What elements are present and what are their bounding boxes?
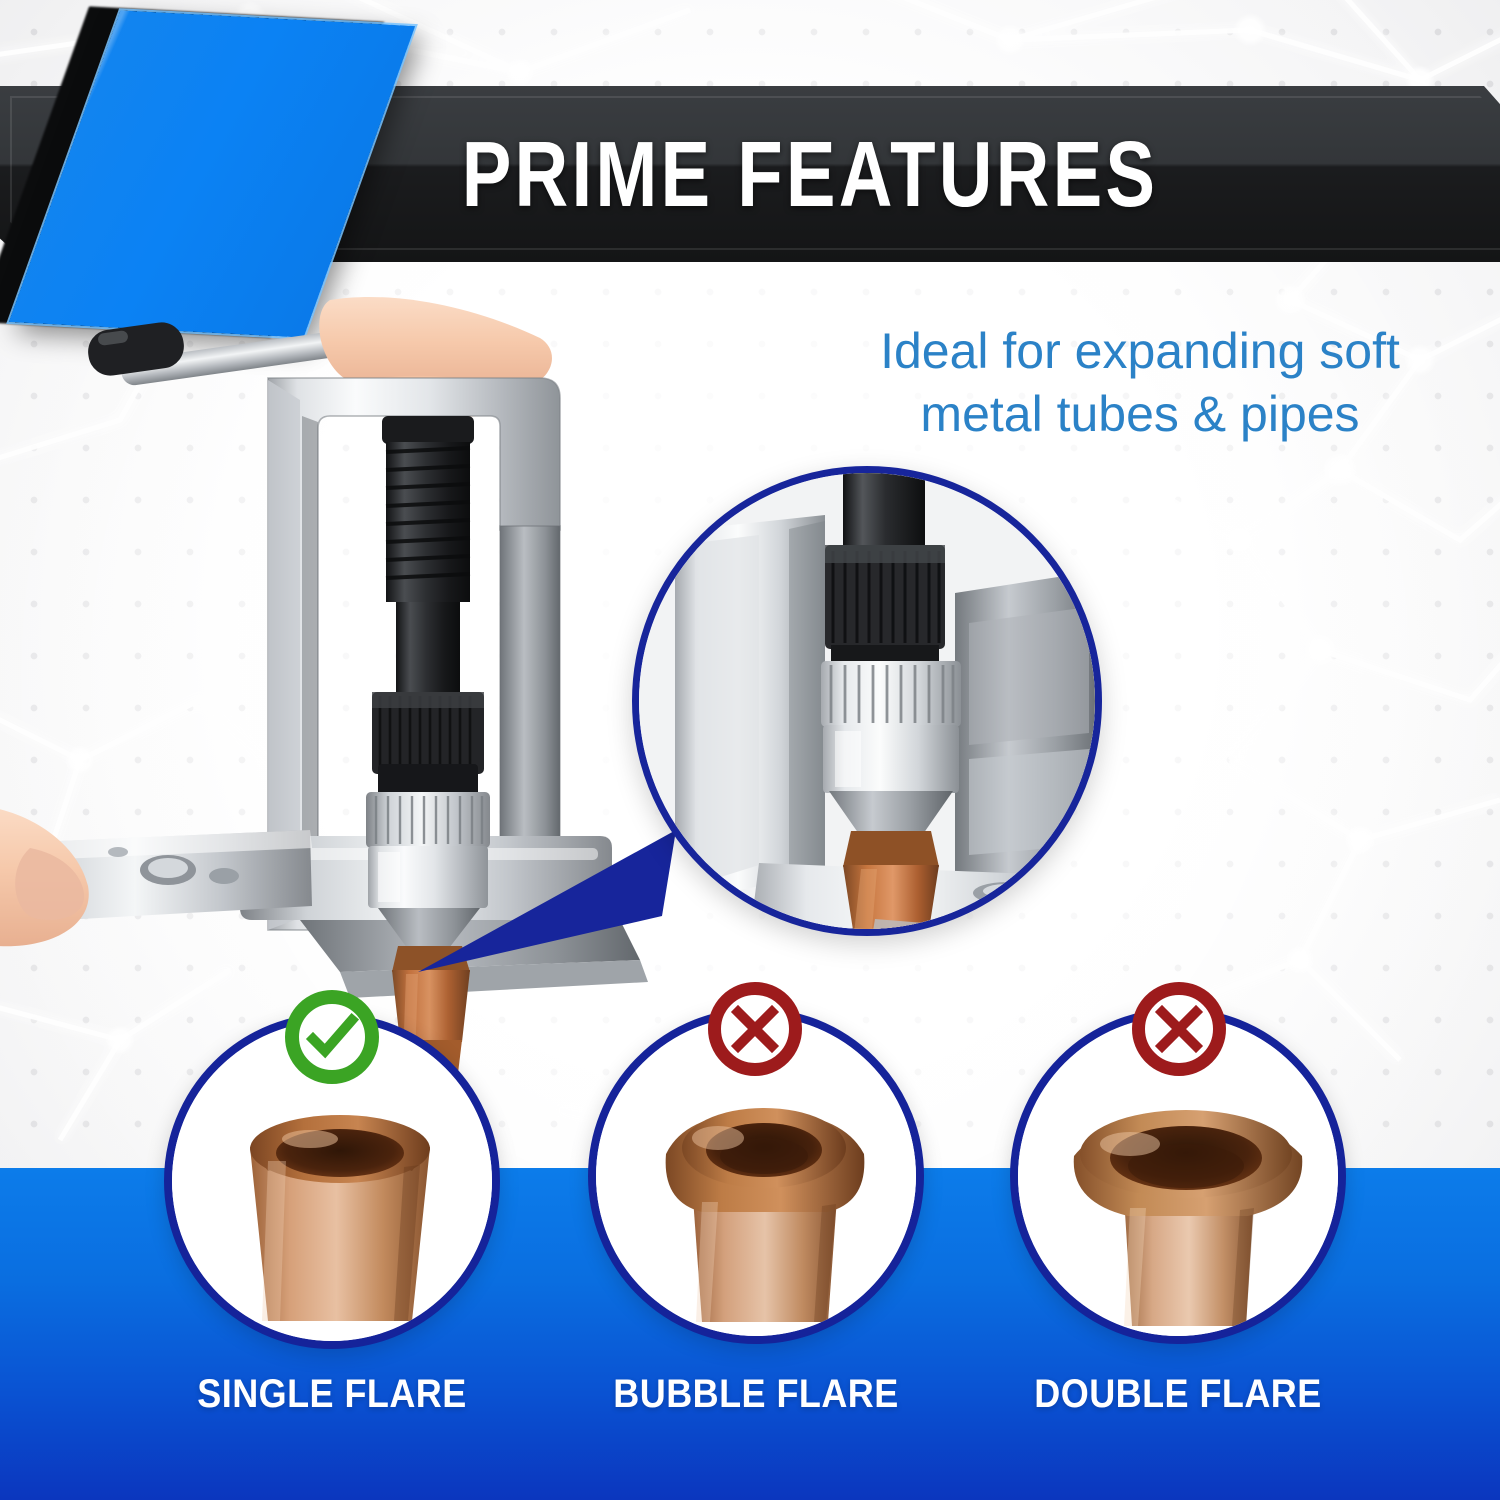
flare-label-double: DOUBLE FLARE <box>989 1372 1367 1417</box>
subtitle-line-2: metal tubes & pipes <box>800 383 1480 446</box>
callout-pointer <box>400 820 680 990</box>
status-badge-ok <box>285 990 379 1084</box>
flare-label-bubble: BUBBLE FLARE <box>567 1372 945 1417</box>
check-icon <box>304 1009 360 1065</box>
status-badge-not-ok-double <box>1132 982 1226 1076</box>
status-badge-not-ok-bubble <box>708 982 802 1076</box>
subtitle-text: Ideal for expanding soft metal tubes & p… <box>800 320 1480 446</box>
flare-label-single: SINGLE FLARE <box>143 1372 521 1417</box>
subtitle-line-1: Ideal for expanding soft <box>800 320 1480 383</box>
cross-icon <box>727 1001 783 1057</box>
product-feature-graphic: PRIME FEATURES Ideal for expanding soft … <box>0 0 1500 1500</box>
cross-icon <box>1151 1001 1207 1057</box>
magnified-detail-callout <box>632 466 1102 936</box>
hand-lower-thumb <box>0 804 89 946</box>
